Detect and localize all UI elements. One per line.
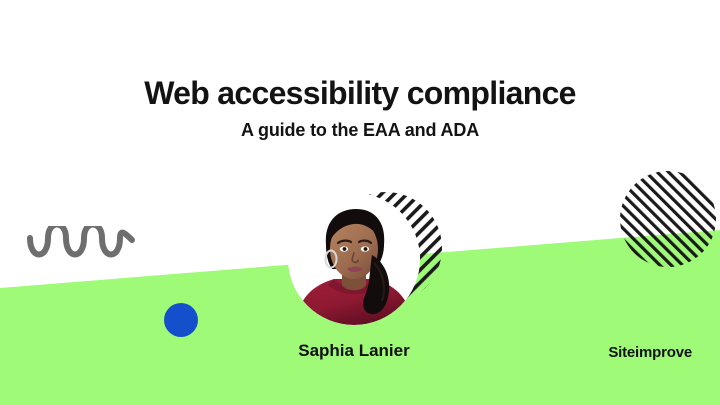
speaker-name-label: Saphia Lanier <box>228 341 480 361</box>
page-title: Web accessibility compliance <box>0 76 720 111</box>
presentation-slide: Web accessibility compliance A guide to … <box>0 0 720 405</box>
page-subtitle: A guide to the EAA and ADA <box>0 121 720 141</box>
blue-circle-dot-icon <box>164 303 198 337</box>
speaker-portrait-avatar <box>288 193 420 325</box>
wavy-line-icon <box>26 226 136 270</box>
siteimprove-logo: Siteimprove <box>608 344 692 361</box>
striped-circle-right-icon <box>620 171 716 267</box>
